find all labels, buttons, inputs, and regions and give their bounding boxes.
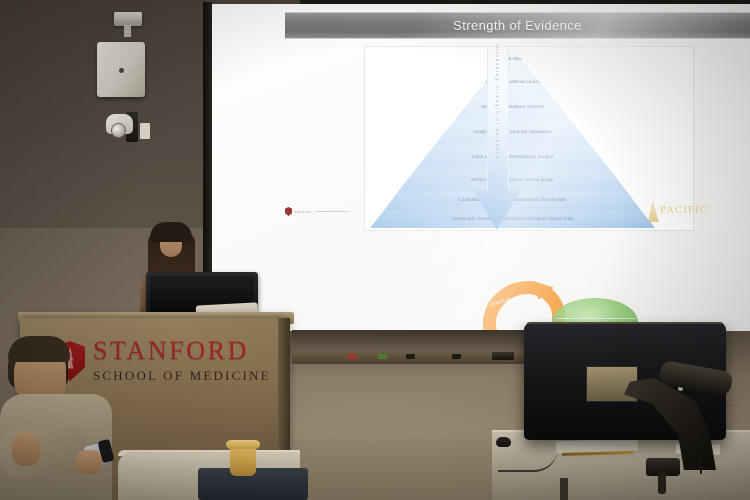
globe-equator <box>556 318 636 319</box>
projector-mount-icon <box>114 12 142 26</box>
slide-stanford-logo: Stanford <box>285 207 349 216</box>
attendee-hair-top <box>8 336 70 362</box>
black-marker-icon[interactable] <box>406 354 415 359</box>
red-marker-icon[interactable] <box>348 354 357 359</box>
slide-logo-rule <box>315 211 349 212</box>
presenter-hair-front <box>150 222 192 242</box>
pacific-logo: PACIFIC <box>660 204 708 216</box>
projection-screen: Strength of Evidence Case report Case se… <box>212 4 750 331</box>
attendee-hand <box>12 432 40 466</box>
speaker-icon <box>97 42 145 97</box>
black-marker-icon[interactable] <box>452 354 461 359</box>
arrow-label: Increasing strength of evidence <box>495 44 500 160</box>
slide-logo-text: Stanford <box>294 209 311 214</box>
projector-stem <box>124 25 131 37</box>
slide: Strength of Evidence Case report Case se… <box>212 4 750 331</box>
arrow-label-wrap: Increasing strength of evidence <box>491 54 503 194</box>
speaker-dot <box>119 68 124 73</box>
slide-title: Strength of Evidence <box>453 18 582 33</box>
stanford-shield-icon <box>285 207 292 216</box>
seated-attendee <box>0 336 132 500</box>
arrow-head-icon <box>474 191 520 230</box>
slide-title-bar: Strength of Evidence <box>285 12 750 39</box>
wall-plate <box>140 123 150 139</box>
camera-lens-icon <box>111 123 126 138</box>
attendee-ear <box>32 378 42 390</box>
mouse-icon[interactable] <box>496 437 511 447</box>
eraser-icon[interactable] <box>492 352 514 360</box>
lecture-hall-scene: Strength of Evidence Case report Case se… <box>0 0 750 500</box>
strength-arrow: Increasing strength of evidence <box>474 48 520 230</box>
clamp-screw[interactable] <box>658 472 666 494</box>
green-marker-icon[interactable] <box>378 354 387 359</box>
coffee-cup-lid <box>226 440 260 449</box>
desk-leg <box>560 478 568 500</box>
attendee-hand <box>76 450 102 474</box>
